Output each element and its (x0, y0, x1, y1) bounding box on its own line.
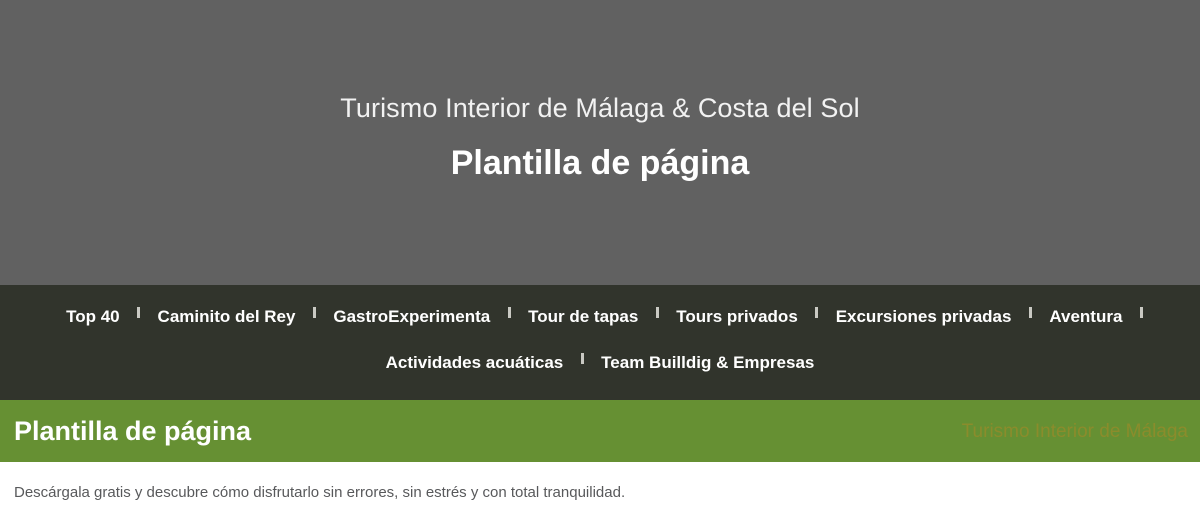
nav-separator-icon (581, 353, 584, 364)
nav-item-top-40[interactable]: Top 40 (55, 294, 131, 340)
nav-item-actividades-acuaticas[interactable]: Actividades acuáticas (375, 340, 575, 386)
breadcrumb-page-title: Plantilla de página (14, 418, 251, 445)
page-root: Turismo Interior de Málaga & Costa del S… (0, 0, 1200, 519)
main-content: Descárgala gratis y descubre cómo disfru… (0, 462, 1200, 519)
breadcrumb-bar: Plantilla de página Turismo Interior de … (0, 400, 1200, 462)
primary-navigation: Top 40 Caminito del Rey GastroExperiment… (0, 285, 1200, 400)
nav-item-tour-de-tapas[interactable]: Tour de tapas (517, 294, 649, 340)
breadcrumb-parent-link[interactable]: Turismo Interior de Málaga (962, 422, 1188, 441)
nav-item-tours-privados[interactable]: Tours privados (665, 294, 809, 340)
nav-separator-icon (656, 307, 659, 318)
site-header: Turismo Interior de Málaga & Costa del S… (0, 0, 1200, 285)
nav-item-caminito-del-rey[interactable]: Caminito del Rey (147, 294, 307, 340)
nav-separator-icon (1029, 307, 1032, 318)
nav-separator-icon (137, 307, 140, 318)
nav-item-excursiones-privadas[interactable]: Excursiones privadas (825, 294, 1023, 340)
content-lede-text: Descárgala gratis y descubre cómo disfru… (14, 482, 1186, 504)
site-title: Turismo Interior de Málaga & Costa del S… (340, 92, 859, 126)
nav-separator-icon (1140, 307, 1143, 318)
nav-list: Top 40 Caminito del Rey GastroExperiment… (30, 294, 1170, 386)
nav-separator-icon (815, 307, 818, 318)
nav-item-gastroexperimenta[interactable]: GastroExperimenta (322, 294, 501, 340)
nav-item-aventura[interactable]: Aventura (1038, 294, 1133, 340)
nav-item-team-building-empresas[interactable]: Team Builldig & Empresas (590, 340, 825, 386)
nav-separator-icon (313, 307, 316, 318)
nav-separator-icon (508, 307, 511, 318)
page-title: Plantilla de página (451, 142, 750, 185)
